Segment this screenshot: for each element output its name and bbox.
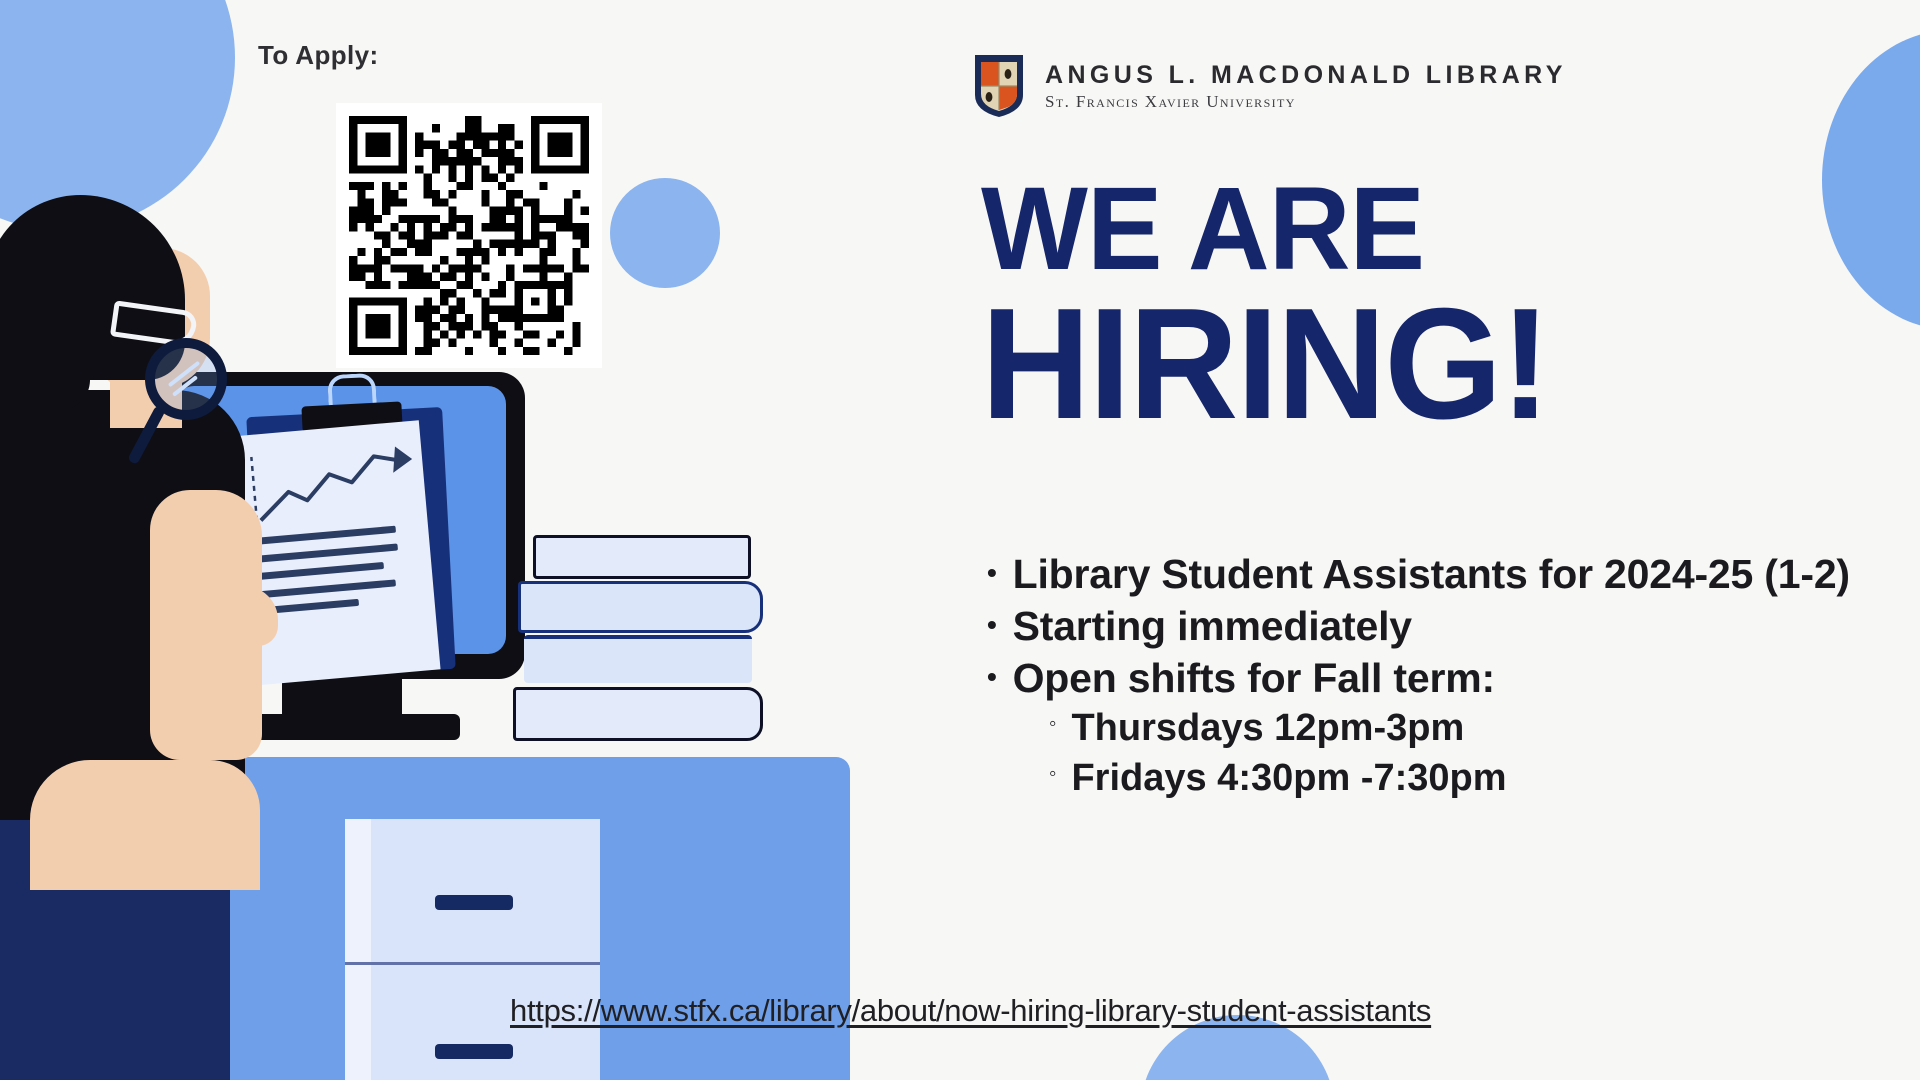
list-item-sub: ◦ Fridays 4:30pm -7:30pm: [1049, 754, 1897, 803]
stfx-shield-crest-icon: [975, 55, 1023, 117]
list-item: • Open shifts for Fall term:: [987, 652, 1897, 704]
brand-title: ANGUS L. MACDONALD LIBRARY: [1045, 61, 1567, 90]
library-brand-lockup: ANGUS L. MACDONALD LIBRARY St. Francis X…: [975, 55, 1567, 117]
list-item: • Starting immediately: [987, 600, 1897, 652]
chair-base: [130, 940, 192, 1080]
headline-line-2: HIRING!: [981, 291, 1888, 438]
headline-line-1: WE ARE: [981, 175, 1888, 285]
magnifying-glass-icon: [145, 338, 227, 420]
qr-code-icon[interactable]: [336, 103, 602, 368]
person-hair-back: [0, 260, 90, 410]
book-stack-item: [533, 535, 751, 579]
bullet-marker: •: [987, 652, 997, 701]
list-item-sub: ◦ Thursdays 12pm-3pm: [1049, 704, 1897, 753]
book-stack-item: [518, 581, 763, 633]
application-url-link[interactable]: https://www.stfx.ca/library/about/now-hi…: [510, 993, 1431, 1029]
growth-chart-icon: [244, 433, 421, 535]
list-item-sub-label: Thursdays 12pm-3pm: [1071, 704, 1464, 753]
to-apply-label: To Apply:: [258, 40, 379, 71]
list-item: • Library Student Assistants for 2024-25…: [987, 548, 1897, 600]
qr-code-canvas: [349, 116, 589, 355]
bullet-marker: •: [987, 548, 997, 597]
sub-bullet-marker: ◦: [1049, 754, 1056, 794]
book-stack-item: [524, 635, 752, 683]
bullet-marker: •: [987, 600, 997, 649]
list-item-label: Open shifts for Fall term:: [1013, 652, 1495, 704]
drawer-side-panel: [345, 819, 371, 1080]
person-lap: [30, 760, 260, 890]
drawer-divider: [345, 962, 600, 965]
brand-subtitle: St. Francis Xavier University: [1045, 92, 1567, 112]
job-details-list: • Library Student Assistants for 2024-25…: [987, 548, 1897, 803]
sub-bullet-marker: ◦: [1049, 704, 1056, 744]
list-item-label: Library Student Assistants for 2024-25 (…: [1013, 548, 1850, 600]
book-stack-item: [513, 687, 763, 741]
person-hand: [200, 586, 278, 646]
desk-drawer-unit: [345, 819, 600, 1080]
monitor-stand: [282, 676, 402, 722]
page-title: WE ARE HIRING!: [981, 175, 1920, 438]
poster-content-column: ANGUS L. MACDONALD LIBRARY St. Francis X…: [975, 0, 1920, 1080]
list-item-label: Starting immediately: [1013, 600, 1412, 652]
drawer-handle-bottom: [435, 1044, 513, 1059]
drawer-handle-top: [435, 895, 513, 910]
list-item-sub-label: Fridays 4:30pm -7:30pm: [1071, 754, 1506, 803]
